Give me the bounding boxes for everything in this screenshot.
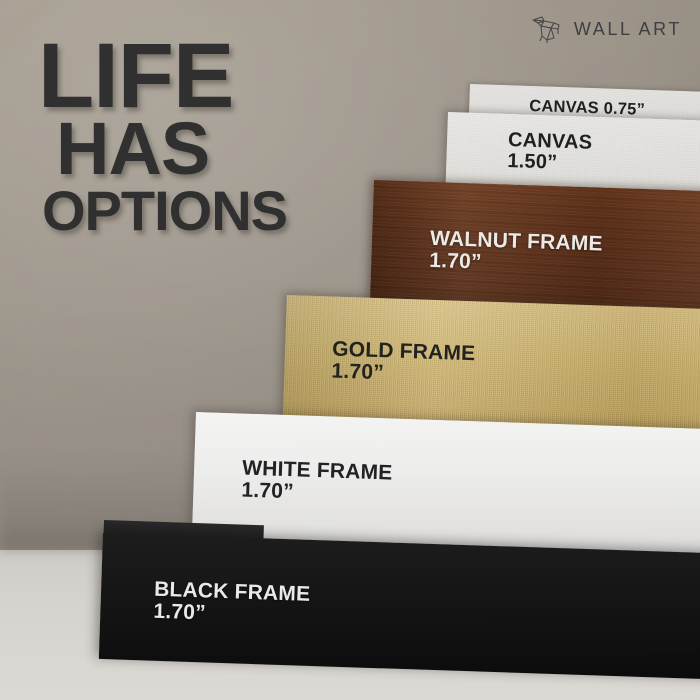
page-title: LIFE HAS OPTIONS bbox=[38, 38, 287, 239]
origami-goat-icon bbox=[530, 14, 564, 44]
option-label-line-2: 1.50” bbox=[507, 151, 592, 175]
brand-logo[interactable]: WALL ART bbox=[530, 14, 682, 44]
option-label-canvas-1-50: CANVAS 1.50” bbox=[507, 130, 593, 174]
headline-line-1: LIFE bbox=[38, 38, 287, 115]
product-options-poster: WALL ART LIFE HAS OPTIONS CANVAS 0.75” C… bbox=[0, 0, 700, 700]
option-label-gold-frame: GOLD FRAME 1.70” bbox=[331, 339, 476, 387]
brand-name: WALL ART bbox=[574, 19, 682, 40]
headline-line-2: HAS bbox=[56, 115, 287, 183]
option-black-frame[interactable]: BLACK FRAME 1.70” bbox=[99, 533, 700, 682]
option-label-walnut-frame: WALNUT FRAME 1.70” bbox=[429, 228, 603, 277]
option-gold-frame[interactable]: GOLD FRAME 1.70” bbox=[283, 295, 700, 437]
option-label-black-frame: BLACK FRAME 1.70” bbox=[153, 579, 311, 628]
option-label-white-frame: WHITE FRAME 1.70” bbox=[241, 458, 393, 507]
headline-line-3: OPTIONS bbox=[42, 183, 287, 239]
